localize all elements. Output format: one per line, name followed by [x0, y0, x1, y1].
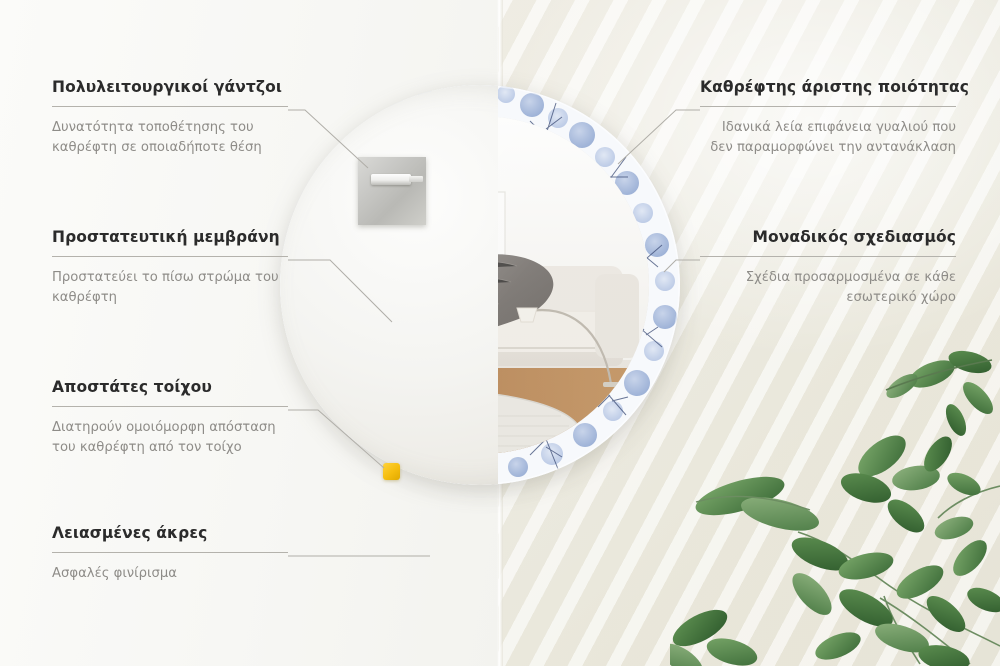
callout-edges-rule — [52, 552, 288, 553]
callout-quality-desc: Ιδανικά λεία επιφάνεια γυαλιού που δεν π… — [700, 118, 956, 158]
wall-hook-plate — [358, 157, 426, 225]
hook-slot — [371, 174, 411, 185]
callout-design-desc: Σχέδια προσαρμοσμένα σε κάθε εσωτερικό χ… — [700, 268, 956, 308]
callout-quality: Καθρέφτης άριστης ποιότητας Ιδανικά λεία… — [700, 78, 956, 158]
callout-quality-title: Καθρέφτης άριστης ποιότητας — [700, 78, 956, 97]
product-mirror — [280, 85, 680, 485]
callout-design: Μοναδικός σχεδιασμός Σχέδια προσαρμοσμέν… — [700, 228, 956, 308]
callout-spacers-rule — [52, 406, 288, 407]
callout-design-title: Μοναδικός σχεδιασμός — [700, 228, 956, 247]
infographic-canvas: Πολυλειτουργικοί γάντζοι Δυνατότητα τοπο… — [0, 0, 1000, 666]
callout-hooks-title: Πολυλειτουργικοί γάντζοι — [52, 78, 288, 97]
callout-membrane-desc: Προστατεύει το πίσω στρώμα του καθρέφτη — [52, 268, 288, 308]
mirror-back-view — [280, 85, 680, 485]
foliage-decoration — [670, 346, 1000, 666]
callout-hooks: Πολυλειτουργικοί γάντζοι Δυνατότητα τοπο… — [52, 78, 288, 158]
callout-edges-desc: Ασφαλές φινίρισμα — [52, 564, 288, 584]
callout-spacers: Αποστάτες τοίχου Διατηρούν ομοιόμορφη απ… — [52, 378, 288, 458]
callout-spacers-title: Αποστάτες τοίχου — [52, 378, 288, 397]
callout-edges-title: Λειασμένες άκρες — [52, 524, 288, 543]
callout-spacers-desc: Διατηρούν ομοιόμορφη απόσταση του καθρέφ… — [52, 418, 288, 458]
callout-membrane: Προστατευτική μεμβράνη Προστατεύει το πί… — [52, 228, 288, 308]
wall-spacer-marker — [383, 463, 400, 480]
callout-quality-rule — [700, 106, 956, 107]
callout-design-rule — [700, 256, 956, 257]
callout-hooks-desc: Δυνατότητα τοποθέτησης του καθρέφτη σε ο… — [52, 118, 288, 158]
callout-edges: Λειασμένες άκρες Ασφαλές φινίρισμα — [52, 524, 288, 584]
callout-hooks-rule — [52, 106, 288, 107]
callout-membrane-rule — [52, 256, 288, 257]
callout-membrane-title: Προστατευτική μεμβράνη — [52, 228, 288, 247]
